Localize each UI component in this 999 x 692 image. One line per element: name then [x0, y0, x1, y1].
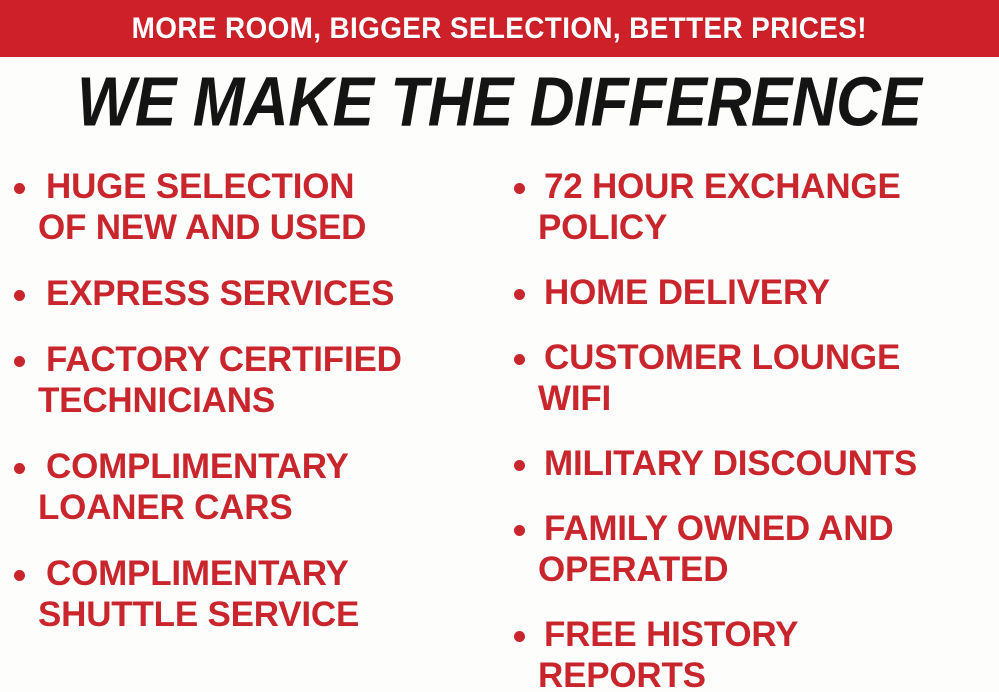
list-item-label: COMPLIMENTARY LOANER CARS — [38, 446, 349, 528]
list-item-label: HUGE SELECTION OF NEW AND USED — [38, 166, 366, 248]
bullet-dot-icon — [514, 289, 525, 300]
list-item: 72 HOUR EXCHANGE POLICY — [514, 166, 997, 248]
bullet-dot-icon — [514, 183, 525, 194]
top-banner: MORE ROOM, BIGGER SELECTION, BETTER PRIC… — [0, 0, 999, 57]
bullet-dot-icon — [14, 463, 25, 474]
bullet-dot-icon — [14, 570, 25, 581]
list-item: HUGE SELECTION OF NEW AND USED — [14, 166, 496, 248]
list-item: FACTORY CERTIFIED TECHNICIANS — [14, 339, 496, 421]
bullet-dot-icon — [14, 183, 25, 194]
list-item-label: 72 HOUR EXCHANGE POLICY — [538, 166, 901, 248]
list-item: CUSTOMER LOUNGE WIFI — [514, 337, 997, 419]
benefits-column-left: HUGE SELECTION OF NEW AND USED EXPRESS S… — [0, 158, 500, 692]
bullet-dot-icon — [514, 631, 525, 642]
top-banner-text: MORE ROOM, BIGGER SELECTION, BETTER PRIC… — [132, 14, 867, 44]
headline-container: WE MAKE THE DIFFERENCE — [0, 62, 999, 140]
promo-poster: MORE ROOM, BIGGER SELECTION, BETTER PRIC… — [0, 0, 999, 692]
list-item-label: FAMILY OWNED AND OPERATED — [538, 508, 893, 590]
bullet-dot-icon — [14, 356, 25, 367]
list-item-label: HOME DELIVERY — [538, 272, 830, 313]
list-item: FREE HISTORY REPORTS — [514, 614, 997, 692]
list-item: EXPRESS SERVICES — [14, 273, 496, 314]
list-item: FAMILY OWNED AND OPERATED — [514, 508, 997, 590]
list-item-label: CUSTOMER LOUNGE WIFI — [538, 337, 900, 419]
list-item-label: COMPLIMENTARY SHUTTLE SERVICE — [38, 553, 359, 635]
page-title: WE MAKE THE DIFFERENCE — [77, 66, 921, 136]
bullet-dot-icon — [514, 460, 525, 471]
bullet-dot-icon — [514, 525, 525, 536]
list-item-label: EXPRESS SERVICES — [38, 273, 394, 314]
list-item: COMPLIMENTARY SHUTTLE SERVICE — [14, 553, 496, 635]
list-item: HOME DELIVERY — [514, 272, 997, 313]
list-item-label: FACTORY CERTIFIED TECHNICIANS — [38, 339, 402, 421]
benefits-columns: HUGE SELECTION OF NEW AND USED EXPRESS S… — [0, 158, 999, 692]
list-item-label: MILITARY DISCOUNTS — [538, 443, 917, 484]
list-item: COMPLIMENTARY LOANER CARS — [14, 446, 496, 528]
list-item-label: FREE HISTORY REPORTS — [538, 614, 798, 692]
bullet-dot-icon — [14, 290, 25, 301]
benefits-column-right: 72 HOUR EXCHANGE POLICY HOME DELIVERY CU… — [500, 158, 999, 692]
list-item: MILITARY DISCOUNTS — [514, 443, 997, 484]
bullet-dot-icon — [514, 354, 525, 365]
